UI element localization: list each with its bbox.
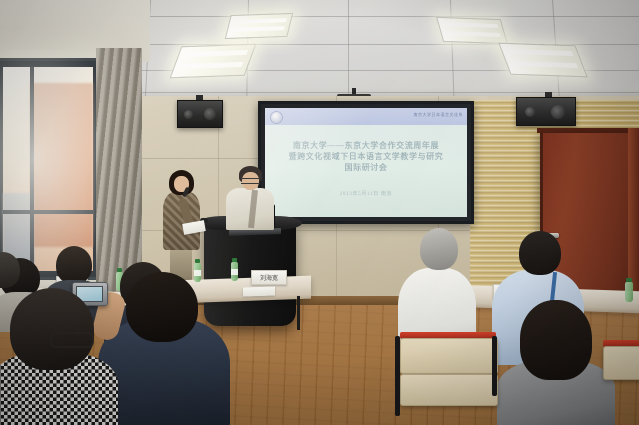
audience-member-photographer-head [126,272,198,342]
audience-member-lanyard-head [519,231,561,275]
water-bottle-cap [195,259,200,263]
audience-chair[interactable] [603,346,639,380]
table-leg [297,296,300,330]
conference-room-photo: 南京大学日本语言文化系 南京大学——东京大学合作交流周年展暨跨文化视域下日本语言… [0,0,639,425]
curtain [96,48,142,298]
audience-member-white-shirt-head [420,228,458,270]
chair-frame [395,336,400,416]
ceiling-light-panel [170,44,257,79]
water-bottle-cap [117,268,122,272]
audience-chair[interactable] [400,338,498,374]
water-bottle-label [194,270,201,276]
projection-screen: 南京大学日本语言文化系 南京大学——东京大学合作交流周年展暨跨文化视域下日本语言… [258,101,474,224]
water-bottle-cap [626,278,632,282]
ceiling-light-panel [225,13,294,39]
eyeglasses-icon [50,332,94,348]
name-card: 刘海宽 [251,270,287,285]
window-glass [3,67,93,271]
water-bottle-cap [232,258,237,262]
eyeglasses-icon [241,178,260,184]
ceiling-light-panel [498,43,588,78]
window-mullion-vertical [30,67,34,271]
screen-glare [265,108,467,217]
water-bottle [625,282,633,302]
ceiling-light-panel [436,17,508,44]
exterior-brick-building [30,83,93,246]
wall-speaker-right [516,97,576,126]
window [0,58,100,280]
wall-speaker-left [177,100,223,128]
name-card-text: 刘海宽 [260,273,278,282]
audience-chair[interactable] [400,374,498,406]
chair-frame [492,336,497,396]
handout-paper [243,286,275,296]
audience-member-back-left-head [56,246,92,284]
window-mullion-horizontal [3,210,93,214]
audience-member-grey-blazer-head [520,300,592,380]
projection-screen-surface: 南京大学日本语言文化系 南京大学——东京大学合作交流周年展暨跨文化视域下日本语言… [265,108,467,217]
water-bottle-label [231,269,238,275]
audience-member-houndstooth-head [10,288,94,370]
